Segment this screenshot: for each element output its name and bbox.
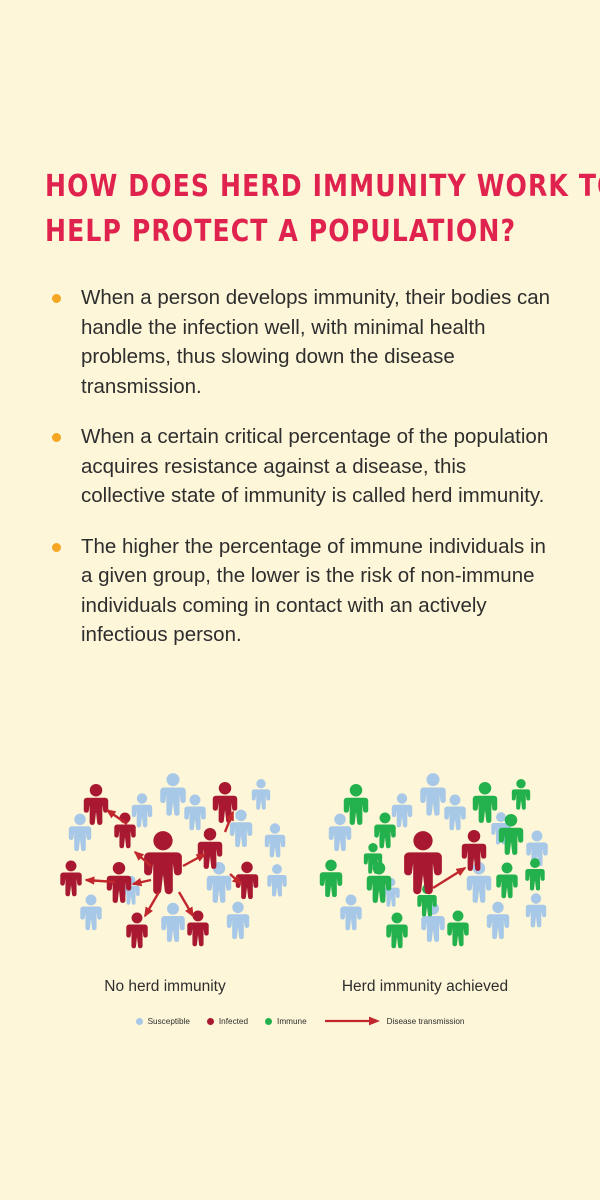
- immune-dot-icon: [265, 1018, 272, 1025]
- infographic-page: How does herd immunity work to help prot…: [0, 0, 600, 1200]
- cluster-no-herd-immunity-figures: [55, 770, 305, 970]
- legend-label: Disease transmission: [387, 1017, 465, 1026]
- cluster-no-herd-immunity: [55, 770, 305, 970]
- legend-item-susceptible: Susceptible: [136, 1017, 190, 1026]
- caption-no-herd-immunity: No herd immunity: [40, 978, 290, 996]
- legend-label: Infected: [219, 1017, 248, 1026]
- bullet-marker-icon: [52, 543, 61, 552]
- caption-herd-immunity-achieved: Herd immunity achieved: [300, 978, 550, 996]
- legend-label: Immune: [277, 1017, 307, 1026]
- list-item: The higher the percentage of immune indi…: [44, 532, 556, 650]
- list-item-text: The higher the percentage of immune indi…: [81, 535, 546, 647]
- page-title-line-2: help protect a population?: [45, 209, 515, 254]
- page-title: How does herd immunity work to help prot…: [45, 164, 515, 254]
- legend-item-infected: Infected: [207, 1017, 248, 1026]
- legend-item-immune: Immune: [265, 1017, 307, 1026]
- list-item-text: When a person develops immunity, their b…: [81, 286, 550, 398]
- legend-label: Susceptible: [148, 1017, 190, 1026]
- legend-item-disease-transmission: Disease transmission: [324, 1016, 465, 1026]
- infected-dot-icon: [207, 1018, 214, 1025]
- page-title-line-1: How does herd immunity work to: [45, 164, 515, 209]
- susceptible-dot-icon: [136, 1018, 143, 1025]
- arrow-right-icon: [324, 1016, 382, 1026]
- bullet-marker-icon: [52, 294, 61, 303]
- list-item: When a certain critical percentage of th…: [44, 422, 556, 511]
- cluster-herd-immunity-achieved-figures: [315, 770, 565, 970]
- cluster-herd-immunity-achieved: [315, 770, 565, 970]
- legend: Susceptible Infected Immune Disease tran…: [0, 1016, 600, 1026]
- bullet-list: When a person develops immunity, their b…: [44, 283, 556, 671]
- bullet-marker-icon: [52, 433, 61, 442]
- list-item: When a person develops immunity, their b…: [44, 283, 556, 401]
- list-item-text: When a certain critical percentage of th…: [81, 425, 548, 507]
